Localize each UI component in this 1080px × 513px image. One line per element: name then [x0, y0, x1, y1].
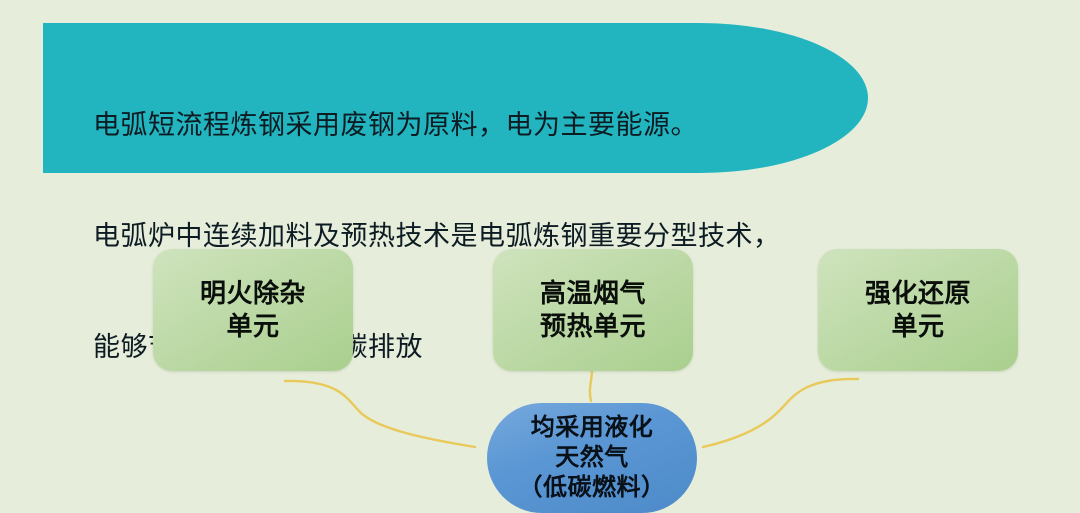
- unit-box-2[interactable]: 高温烟气 预热单元: [493, 249, 693, 371]
- fuel-pill-label: 均采用液化 天然气 （低碳燃料）: [519, 413, 666, 503]
- unit-box-3[interactable]: 强化还原 单元: [818, 249, 1018, 371]
- fuel-pill[interactable]: 均采用液化 天然气 （低碳燃料）: [487, 403, 697, 513]
- banner-line-1: 电弧短流程炼钢采用废钢为原料，电为主要能源。: [93, 107, 813, 144]
- banner-text: 电弧短流程炼钢采用废钢为原料，电为主要能源。 电弧炉中连续加料及预热技术是电弧炼…: [93, 33, 813, 440]
- unit-box-1-label: 明火除杂 单元: [200, 277, 306, 343]
- slide-canvas: 电弧短流程炼钢采用废钢为原料，电为主要能源。 电弧炉中连续加料及预热技术是电弧炼…: [0, 0, 1080, 512]
- banner: 电弧短流程炼钢采用废钢为原料，电为主要能源。 电弧炉中连续加料及预热技术是电弧炼…: [0, 0, 1080, 200]
- unit-box-2-label: 高温烟气 预热单元: [540, 277, 646, 343]
- unit-box-3-label: 强化还原 单元: [865, 277, 971, 343]
- unit-box-1[interactable]: 明火除杂 单元: [153, 249, 353, 371]
